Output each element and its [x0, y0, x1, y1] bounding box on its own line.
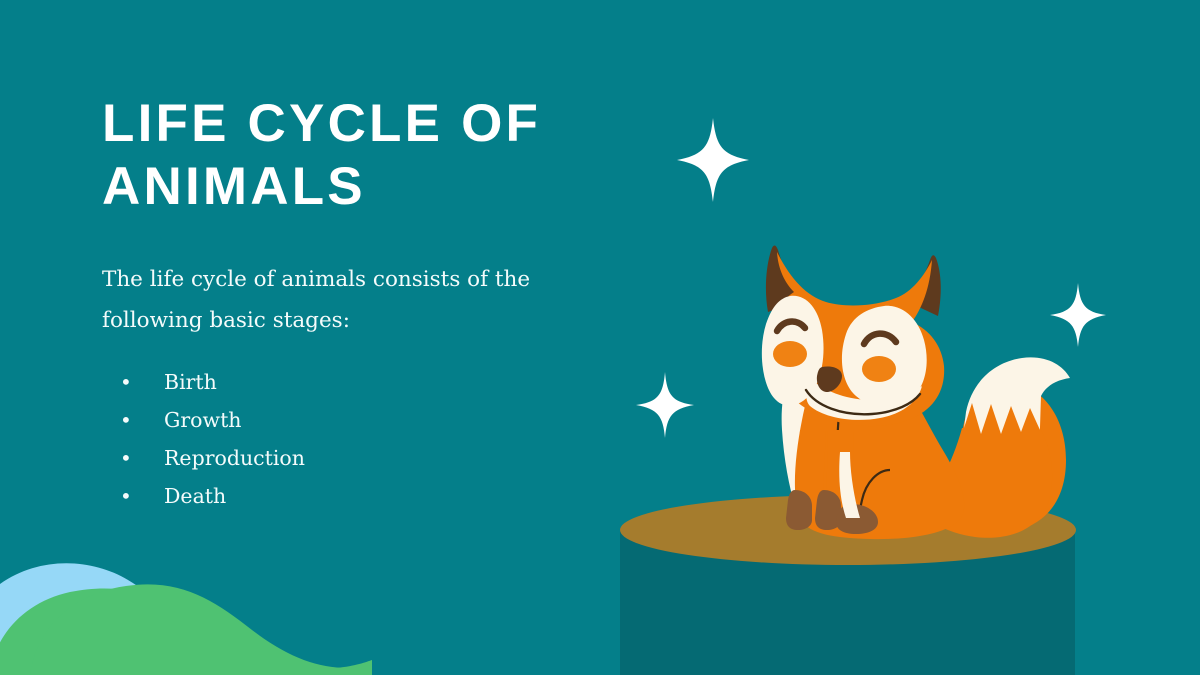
sparkle-right-icon: [1050, 283, 1106, 347]
text-column: LIFE CYCLE OF ANIMALS The life cycle of …: [102, 92, 622, 515]
list-item-label: Birth: [164, 363, 217, 401]
list-item: • Growth: [102, 401, 622, 439]
fox-paw-left: [786, 490, 812, 530]
bullet-icon: •: [102, 363, 164, 401]
intro-paragraph: The life cycle of animals consists of th…: [102, 218, 572, 341]
blob-green-shape-main: [30, 584, 372, 675]
blob-blue-shape: [0, 563, 196, 675]
fox-blush-left: [773, 341, 807, 367]
fox-head: [762, 246, 944, 427]
list-item-label: Reproduction: [164, 439, 305, 477]
list-item-label: Death: [164, 477, 226, 515]
blob-green-shape: [0, 588, 372, 675]
bullet-icon: •: [102, 401, 164, 439]
sparkle-left-icon: [636, 372, 694, 438]
list-item: • Reproduction: [102, 439, 622, 477]
bullet-icon: •: [102, 439, 164, 477]
list-item-label: Growth: [164, 401, 242, 439]
slide-canvas: LIFE CYCLE OF ANIMALS The life cycle of …: [0, 0, 1200, 675]
fox-illustration: [560, 80, 1200, 675]
bullet-icon: •: [102, 477, 164, 515]
stage-list: • Birth • Growth • Reproduction • Death: [102, 341, 622, 515]
list-item: • Birth: [102, 363, 622, 401]
list-item: • Death: [102, 477, 622, 515]
sparkle-top-icon: [677, 118, 749, 202]
fox-blush-right: [862, 356, 896, 382]
page-title: LIFE CYCLE OF ANIMALS: [102, 92, 572, 218]
